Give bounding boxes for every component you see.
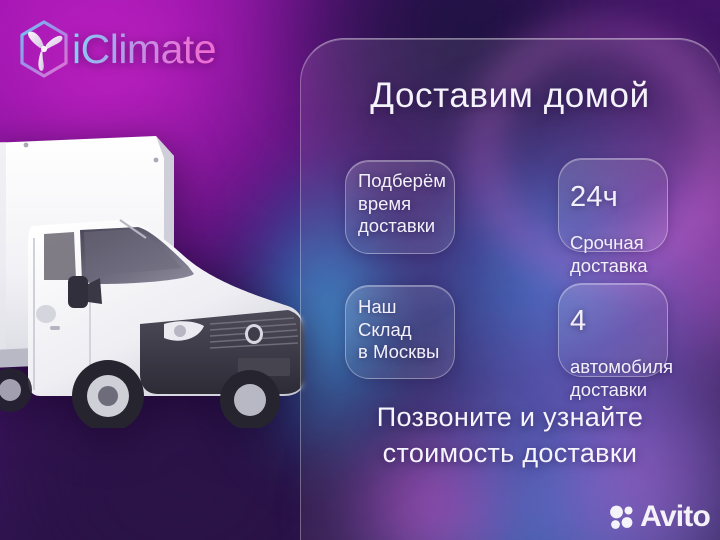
cta-line-1: Позвоните и узнайте [300, 400, 720, 436]
cta-line-2: стоимость доставки [300, 436, 720, 472]
avito-dots-icon [609, 504, 635, 530]
feature-label-moscow-warehouse: Наш Склад в Москвы [358, 296, 439, 364]
feature-number-express-delivery: 24ч [570, 182, 648, 212]
avito-label: Avito [640, 502, 710, 532]
promo-banner: iClimate [0, 0, 720, 540]
feature-label-fleet-size: автомобиля доставки [570, 356, 673, 401]
feature-label-pickup-time: Подберём время доставки [358, 170, 446, 238]
feature-label-express-delivery: Срочная доставка [570, 232, 648, 277]
feature-text-express-delivery: 24ч Срочная доставка [570, 162, 648, 297]
avito-watermark: Avito [609, 502, 710, 532]
call-to-action: Позвоните и узнайте стоимость доставки [300, 400, 720, 472]
feature-number-fleet-size: 4 [570, 306, 673, 336]
